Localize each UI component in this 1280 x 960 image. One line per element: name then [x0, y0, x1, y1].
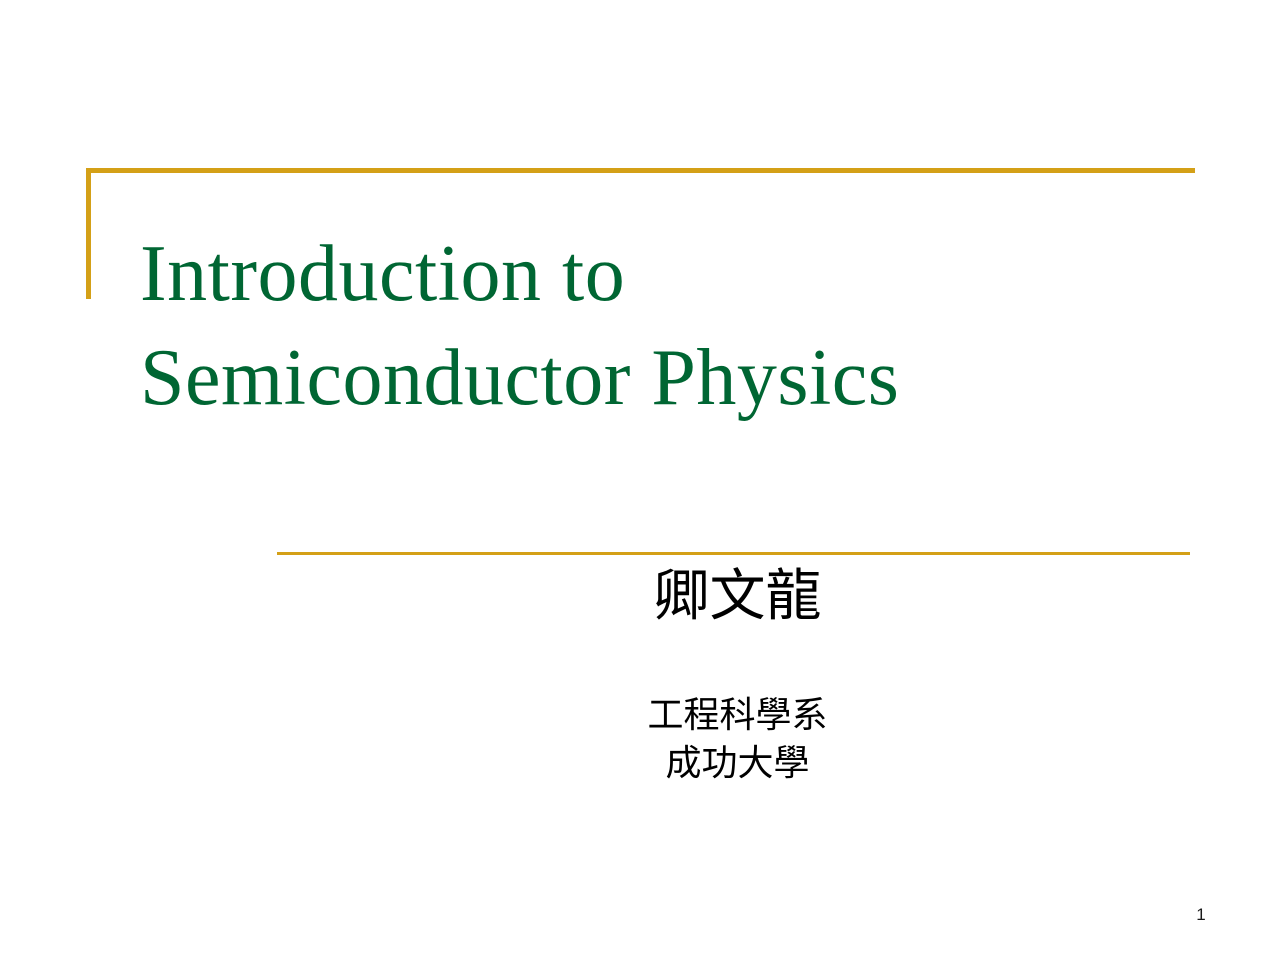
title-line-2: Semiconductor Physics [140, 326, 1190, 430]
slide-canvas: Introduction to Semiconductor Physics 卿文… [0, 0, 1280, 960]
gold-middle-rule [277, 552, 1190, 555]
gold-top-rule [86, 168, 1195, 173]
affiliation-block: 工程科學系 成功大學 [280, 692, 1195, 788]
author-block: 卿文龍 [280, 562, 1195, 632]
page-number: 1 [1186, 905, 1216, 925]
page-title: Introduction to Semiconductor Physics [140, 222, 1190, 430]
author-name: 卿文龍 [280, 562, 1195, 632]
affiliation-institution: 成功大學 [280, 740, 1195, 788]
gold-left-rule [86, 168, 91, 299]
affiliation-department: 工程科學系 [280, 692, 1195, 740]
title-line-1: Introduction to [140, 222, 1190, 326]
